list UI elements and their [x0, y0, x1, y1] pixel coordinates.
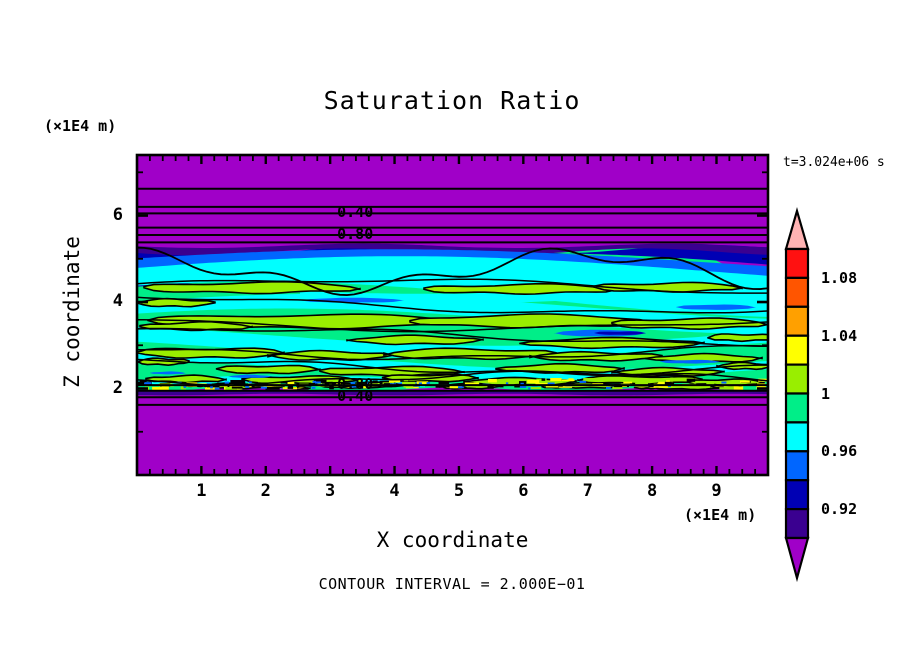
colorbar-band: [786, 422, 808, 451]
colorbar-band: [786, 480, 808, 509]
x-tick-label: 8: [632, 481, 672, 501]
contour-label: 0.40: [337, 203, 373, 221]
colorbar-tick-label: 1.08: [821, 269, 857, 287]
colorbar-band: [786, 336, 808, 365]
x-tick-label: 7: [568, 481, 608, 501]
x-tick-label: 1: [181, 481, 221, 501]
colorbar-tick-label: 1.04: [821, 327, 857, 345]
y-tick-label: 6: [89, 205, 123, 225]
contour-plot-figure: Saturation Ratio (×1E4 m) t=3.024e+06 s …: [0, 0, 904, 654]
colorbar-tick-label: 0.96: [821, 442, 857, 460]
colorbar-band: [786, 278, 808, 307]
colorbar-band: [786, 307, 808, 336]
x-tick-label: 9: [696, 481, 736, 501]
colorbar[interactable]: [786, 211, 808, 578]
x-tick-label: 4: [375, 481, 415, 501]
colorbar-band: [786, 509, 808, 538]
colorbar-band: [786, 249, 808, 278]
colorbar-band: [786, 365, 808, 394]
contour-field: [131, 147, 776, 483]
colorbar-band: [786, 394, 808, 423]
y-tick-label: 4: [89, 291, 123, 311]
contour-label: 0.80: [337, 225, 373, 243]
contour-label: 0.40: [337, 387, 373, 405]
colorbar-tick-label: 1: [821, 385, 830, 403]
x-tick-label: 2: [246, 481, 286, 501]
plot-canvas: [0, 0, 904, 654]
x-tick-label: 3: [310, 481, 350, 501]
y-tick-label: 2: [89, 378, 123, 398]
x-tick-label: 6: [503, 481, 543, 501]
colorbar-tick-label: 0.92: [821, 500, 857, 518]
x-tick-label: 5: [439, 481, 479, 501]
colorbar-band: [786, 451, 808, 480]
